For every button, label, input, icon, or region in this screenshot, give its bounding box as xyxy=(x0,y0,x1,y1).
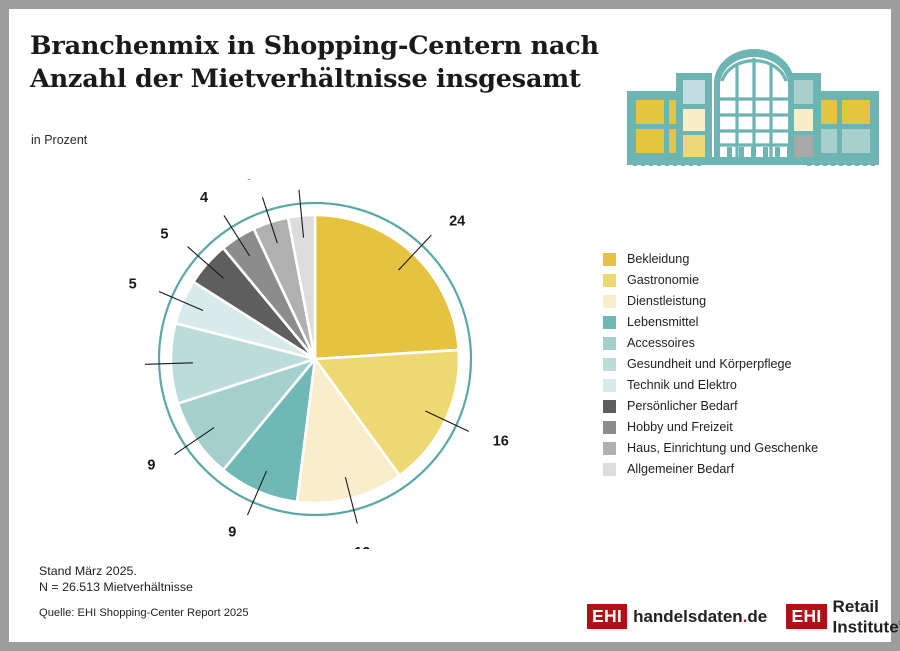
legend-item[interactable]: Dienstleistung xyxy=(603,291,883,312)
ehi-mark-icon: EHI xyxy=(587,604,627,629)
stand-line-2: N = 26.513 Mietverhältnisse xyxy=(39,579,193,595)
legend-item-label: Persönlicher Bedarf xyxy=(627,400,738,413)
ehi-mark-icon-2: EHI xyxy=(786,604,826,629)
legend-item[interactable]: Gesundheit und Körperpflege xyxy=(603,354,883,375)
logo-handelsdaten-text: handelsdaten.de xyxy=(633,608,767,625)
legend-swatch-icon xyxy=(603,400,616,413)
legend-item-label: Allgemeiner Bedarf xyxy=(627,463,734,476)
page-title: Branchenmix in Shopping-Centern nach Anz… xyxy=(30,30,680,96)
logo-bar: EHI handelsdaten.de EHI Retail Institute… xyxy=(587,598,900,636)
pie-value-label: 5 xyxy=(160,226,168,242)
chart-legend: BekleidungGastronomieDienstleistungLeben… xyxy=(603,249,883,480)
legend-swatch-icon xyxy=(603,379,616,392)
pie-value-label: 4 xyxy=(200,190,208,206)
legend-swatch-icon xyxy=(603,316,616,329)
pie-chart-svg: 24161299955443 xyxy=(129,179,509,549)
legend-item-label: Dienstleistung xyxy=(627,295,706,308)
legend-swatch-icon xyxy=(603,442,616,455)
legend-swatch-icon xyxy=(603,421,616,434)
logo-retail-institute-text: Retail Institute® xyxy=(833,598,900,636)
legend-item-label: Gesundheit und Körperpflege xyxy=(627,358,792,371)
pie-chart: 24161299955443 xyxy=(129,179,509,549)
legend-item[interactable]: Haus, Einrichtung und Geschenke xyxy=(603,438,883,459)
pie-value-label: 16 xyxy=(493,434,509,450)
stand-note: Stand März 2025. N = 26.513 Mietverhältn… xyxy=(39,563,193,595)
legend-item-label: Technik und Elektro xyxy=(627,379,737,392)
source-note: Quelle: EHI Shopping-Center Report 2025 xyxy=(39,607,249,619)
pie-value-label: 9 xyxy=(228,525,236,541)
legend-item[interactable]: Gastronomie xyxy=(603,270,883,291)
legend-item-label: Accessoires xyxy=(627,337,695,350)
legend-item[interactable]: Persönlicher Bedarf xyxy=(603,396,883,417)
legend-item-label: Lebensmittel xyxy=(627,316,698,329)
infographic-card: Branchenmix in Shopping-Centern nach Anz… xyxy=(9,9,891,642)
logo-retail-institute[interactable]: EHI Retail Institute® xyxy=(786,598,900,636)
legend-item-label: Bekleidung xyxy=(627,253,689,266)
legend-swatch-icon xyxy=(603,274,616,287)
legend-swatch-icon xyxy=(603,358,616,371)
legend-item[interactable]: Allgemeiner Bedarf xyxy=(603,459,883,480)
legend-item-label: Gastronomie xyxy=(627,274,699,287)
pie-value-label: 5 xyxy=(129,277,137,293)
logo-retail-institute-name: Retail Institute xyxy=(833,597,899,637)
legend-item[interactable]: Lebensmittel xyxy=(603,312,883,333)
chart-subtitle: in Prozent xyxy=(31,133,87,147)
legend-item-label: Hobby und Freizeit xyxy=(627,421,733,434)
pie-slices xyxy=(171,215,459,503)
pie-value-label: 4 xyxy=(243,179,251,183)
logo-handelsdaten-name: handelsdaten xyxy=(633,607,743,626)
legend-swatch-icon xyxy=(603,295,616,308)
building-left-tower xyxy=(676,73,712,157)
logo-handelsdaten[interactable]: EHI handelsdaten.de xyxy=(587,604,767,629)
pie-value-label: 9 xyxy=(147,458,155,474)
building-atrium xyxy=(714,49,794,163)
shopping-center-illustration xyxy=(619,23,887,171)
pie-slice[interactable] xyxy=(315,215,459,359)
legend-item[interactable]: Hobby und Freizeit xyxy=(603,417,883,438)
stand-line-1: Stand März 2025. xyxy=(39,563,193,579)
outer-border: Branchenmix in Shopping-Centern nach Anz… xyxy=(0,0,900,651)
legend-item[interactable]: Accessoires xyxy=(603,333,883,354)
pie-value-label: 24 xyxy=(449,213,465,229)
legend-swatch-icon xyxy=(603,337,616,350)
legend-item-label: Haus, Einrichtung und Geschenke xyxy=(627,442,818,455)
legend-item[interactable]: Bekleidung xyxy=(603,249,883,270)
pie-value-label: 12 xyxy=(354,545,370,549)
legend-swatch-icon xyxy=(603,463,616,476)
legend-item[interactable]: Technik und Elektro xyxy=(603,375,883,396)
logo-handelsdaten-tld: de xyxy=(747,607,767,626)
legend-swatch-icon xyxy=(603,253,616,266)
